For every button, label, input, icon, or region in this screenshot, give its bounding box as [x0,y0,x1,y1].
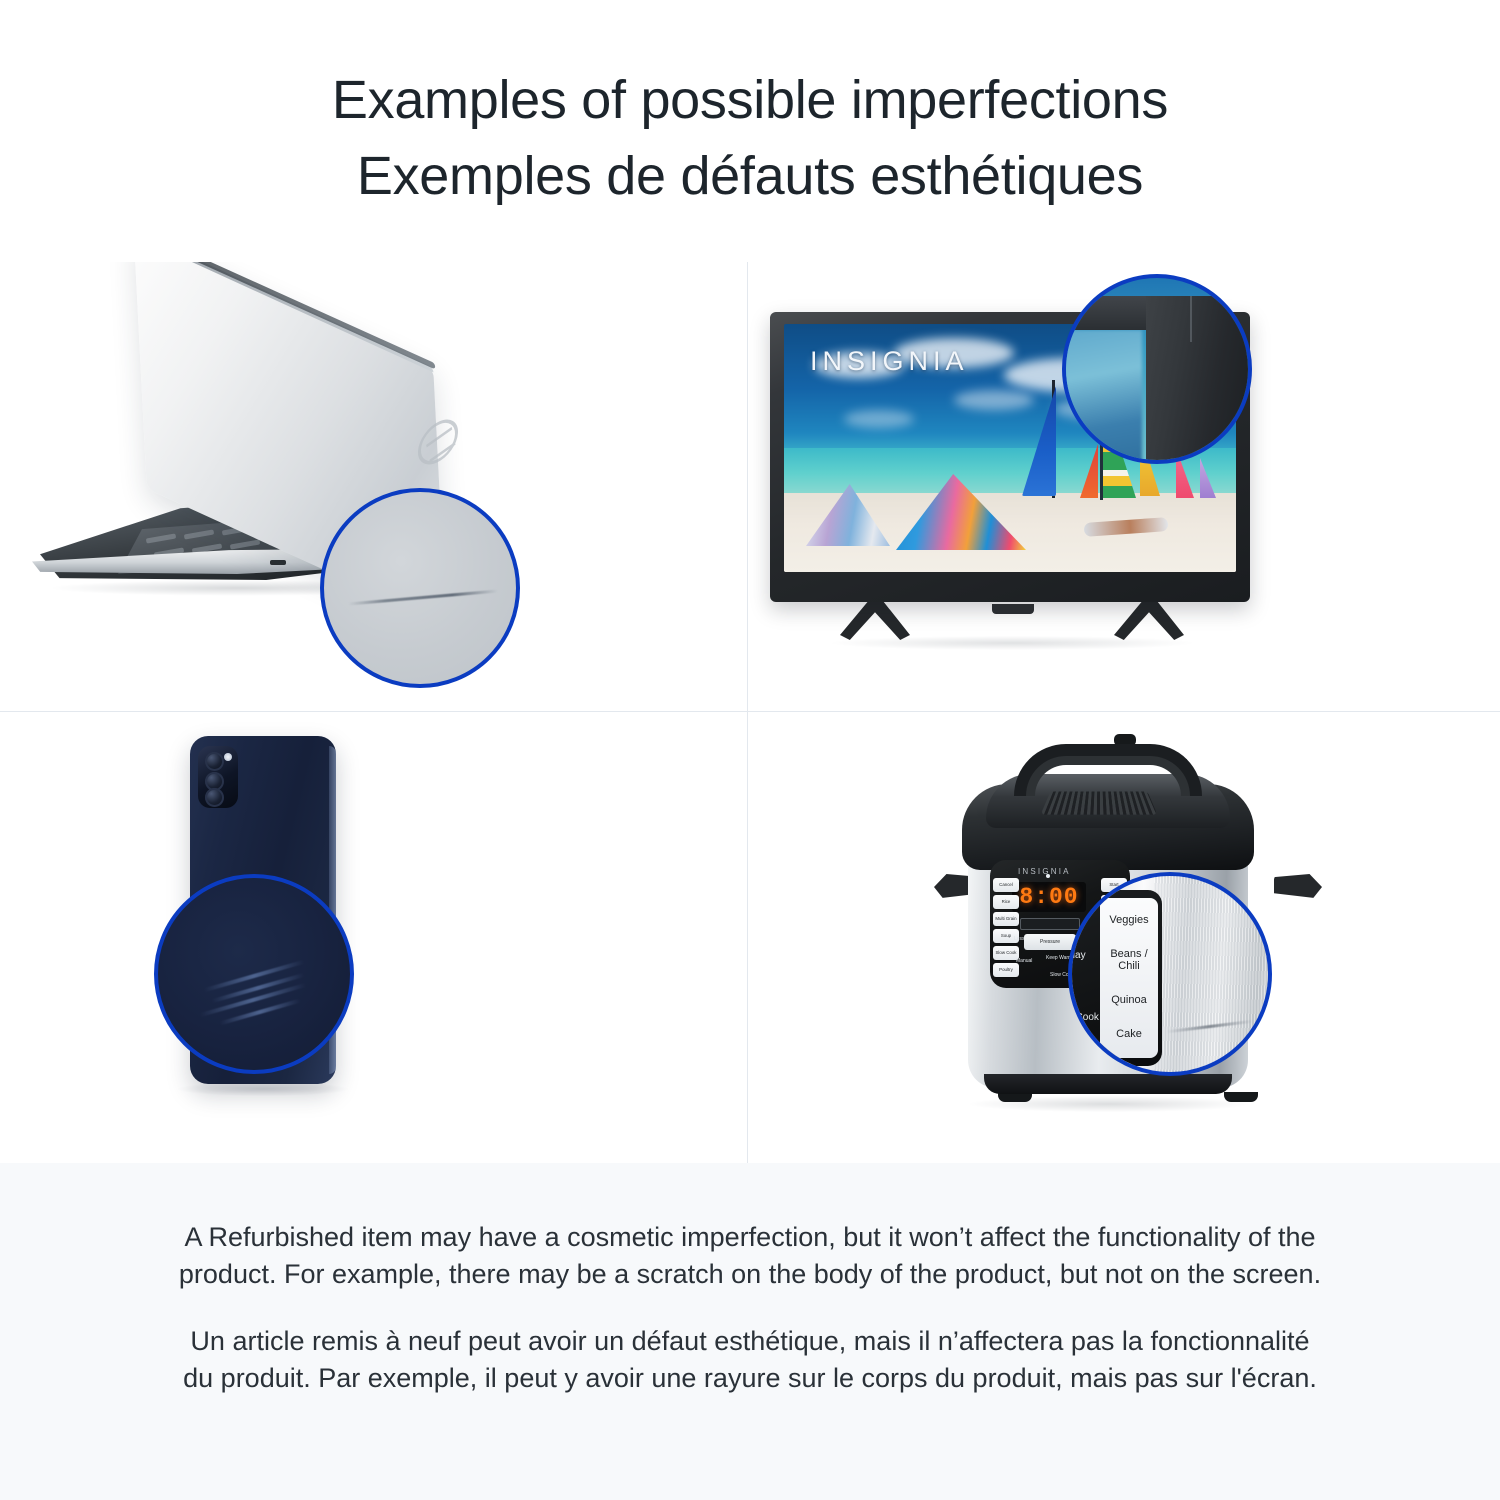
phone-camera-lens-3 [205,788,224,807]
tv-shadow [832,636,1192,650]
tv-leg-left [840,598,910,640]
laptop-panel [0,262,748,712]
tv-panel: INSIGNIA [748,262,1500,712]
pressure-cooker-panel: INSIGNIA 8:00 Cancel Rice Multi Grain So… [748,712,1500,1163]
phone-camera-lens-1 [205,752,224,771]
cooker-magnified-panel: Delay ow Cook Veggies Beans / Chili Quin… [1068,890,1162,1066]
tv-magnifier-circle [1062,274,1252,464]
phone-panel [0,712,748,1163]
laptop-scratch-mark [348,589,498,605]
examples-grid: INSIGNIA [0,262,1500,1163]
cooker-button-poultry[interactable]: Poultry [993,963,1019,977]
cooker-magnified-button-strip: Veggies Beans / Chili Quinoa Cake [1100,898,1158,1058]
cooker-button-rice[interactable]: Rice [993,895,1019,909]
footer-paragraph-french: Un article remis à neuf peut avoir un dé… [175,1323,1325,1397]
tv-logo-nub [992,604,1034,614]
laptop-usb-port [270,560,286,565]
cooker-magnified-button-quinoa[interactable]: Quinoa [1111,995,1146,1007]
laptop-magnifier-circle [320,488,520,688]
cooker-label-manual: Manual [1016,958,1032,964]
cooker-button-multigrain[interactable]: Multi Grain [993,912,1019,926]
laptop-illustration [0,262,748,712]
tv-leg-right [1114,598,1184,640]
phone-scratch-4 [219,999,301,1026]
cooker-magnified-button-cake[interactable]: Cake [1116,1029,1142,1041]
tv-magnified-corner-bezel [1146,296,1252,464]
phone-camera-module [198,746,238,808]
cooker-brand-label: INSIGNIA [1018,867,1071,876]
phone-illustration [0,712,748,1163]
footer-description: A Refurbished item may have a cosmetic i… [0,1163,1500,1500]
cooker-foot-right [1224,1092,1258,1102]
tv-screen-brand: INSIGNIA [810,346,969,377]
cooker-magnified-brushed-steel [1154,876,1268,1072]
cooker-magnified-label-slowcook: ow Cook [1068,1012,1100,1023]
cooker-status-led-icon [1046,874,1050,878]
cooker-button-cancel[interactable]: Cancel [993,878,1019,892]
cooker-button-pressure-cook[interactable]: Pressure [1024,934,1076,950]
cooker-mode-indicator [1020,918,1080,930]
pressure-cooker-illustration: INSIGNIA 8:00 Cancel Rice Multi Grain So… [748,712,1500,1163]
phone-flash-icon [224,753,232,761]
tv-illustration: INSIGNIA [748,262,1500,712]
cooker-carry-handle-inner [1026,756,1190,796]
refurbished-imperfections-infographic: Examples of possible imperfections Exemp… [0,0,1500,1500]
footer-paragraph-english: A Refurbished item may have a cosmetic i… [175,1219,1325,1293]
tv-magnified-screen-area [1062,330,1142,464]
cooker-handle-right [1274,874,1322,900]
phone-shadow [178,1082,348,1096]
cooker-label-less: Less [1014,936,1025,942]
cooker-left-button-column: Cancel Rice Multi Grain Soup Slow Cook P… [993,878,1019,980]
cooker-magnifier-circle: Delay ow Cook Veggies Beans / Chili Quin… [1068,872,1272,1076]
phone-magnifier-circle [154,874,354,1074]
page-title-french: Exemples de défauts esthétiques [357,138,1143,214]
header: Examples of possible imperfections Exemp… [0,0,1500,262]
cooker-magnified-button-veggies[interactable]: Veggies [1109,915,1148,927]
cooker-display-value: 8:00 [1019,884,1078,910]
cooker-magnified-label-delay: Delay [1068,950,1100,961]
page-title-english: Examples of possible imperfections [332,62,1168,138]
cooker-magnified-button-beans[interactable]: Beans / Chili [1100,949,1158,972]
cooker-base [984,1074,1232,1094]
